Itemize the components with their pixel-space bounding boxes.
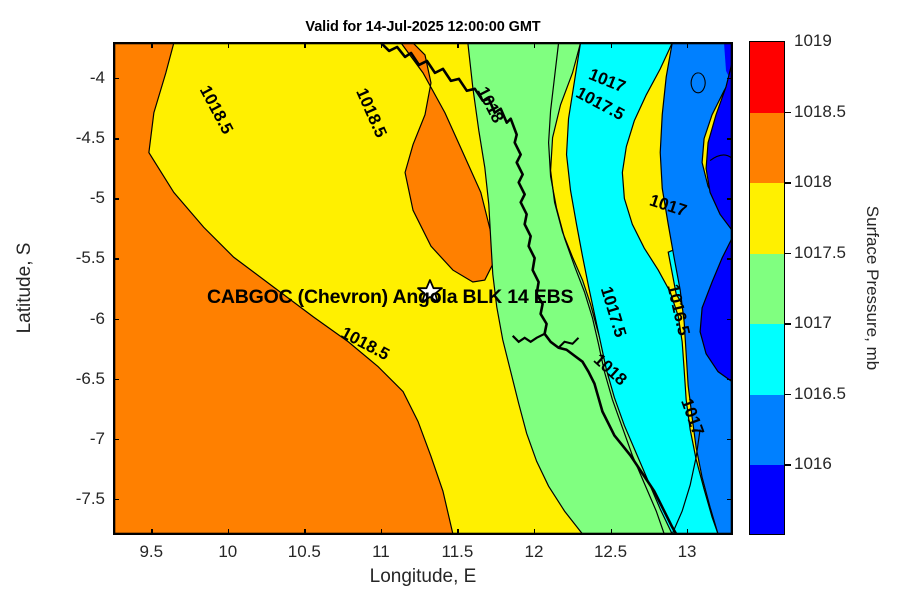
x-tick-top bbox=[151, 42, 152, 48]
y-tick-right bbox=[727, 439, 733, 440]
y-tick bbox=[113, 258, 119, 259]
y-tick-label: -6.5 bbox=[51, 369, 105, 389]
colorbar-band bbox=[750, 113, 784, 184]
colorbar[interactable] bbox=[749, 41, 785, 535]
x-tick bbox=[687, 529, 688, 535]
colorbar-tick-label: 1016 bbox=[794, 454, 832, 474]
y-tick-right bbox=[727, 319, 733, 320]
y-tick-right bbox=[727, 138, 733, 139]
y-tick-label: -5 bbox=[51, 188, 105, 208]
colorbar-tick bbox=[785, 464, 791, 465]
y-tick-label: -5.5 bbox=[51, 248, 105, 268]
y-tick-label: -6 bbox=[51, 309, 105, 329]
y-tick-right bbox=[727, 379, 733, 380]
colorbar-band bbox=[750, 42, 784, 113]
colorbar-band bbox=[750, 324, 784, 395]
colorbar-tick-label: 1017.5 bbox=[794, 243, 846, 263]
x-tick bbox=[151, 529, 152, 535]
station-label: CABGOC (Chevron) Angola BLK 14 EBS bbox=[207, 286, 573, 309]
y-tick bbox=[113, 319, 119, 320]
colorbar-tick-label: 1018.5 bbox=[794, 102, 846, 122]
x-tick-label: 12 bbox=[525, 542, 544, 562]
x-tick-top bbox=[228, 42, 229, 48]
colorbar-title: Surface Pressure, mb bbox=[862, 138, 882, 438]
y-tick bbox=[113, 439, 119, 440]
x-tick-label: 11 bbox=[372, 542, 390, 562]
colorbar-band bbox=[750, 183, 784, 254]
x-tick-top bbox=[687, 42, 688, 48]
x-tick-label: 13 bbox=[678, 542, 697, 562]
colorbar-band bbox=[750, 395, 784, 466]
y-tick bbox=[113, 379, 119, 380]
colorbar-band bbox=[750, 465, 784, 535]
x-tick bbox=[611, 529, 612, 535]
pressure-map-figure: Valid for 14-Jul-2025 12:00:00 GMT bbox=[0, 0, 900, 600]
x-axis-title: Longitude, E bbox=[113, 566, 733, 588]
y-tick bbox=[113, 138, 119, 139]
x-tick bbox=[228, 529, 229, 535]
y-tick-right bbox=[727, 258, 733, 259]
y-tick-right bbox=[727, 198, 733, 199]
y-tick bbox=[113, 499, 119, 500]
colorbar-tick-label: 1019 bbox=[794, 31, 832, 51]
x-tick bbox=[304, 529, 305, 535]
y-tick bbox=[113, 78, 119, 79]
y-tick-right bbox=[727, 499, 733, 500]
x-tick-label: 10.5 bbox=[288, 542, 321, 562]
colorbar-band bbox=[750, 254, 784, 325]
x-tick-label: 10 bbox=[218, 542, 237, 562]
x-tick-top bbox=[611, 42, 612, 48]
colorbar-tick bbox=[785, 253, 791, 254]
x-tick-top bbox=[381, 42, 382, 48]
y-tick bbox=[113, 198, 119, 199]
chart-title: Valid for 14-Jul-2025 12:00:00 GMT bbox=[113, 19, 733, 35]
colorbar-tick bbox=[785, 112, 791, 113]
x-tick bbox=[534, 529, 535, 535]
y-tick-label: -4 bbox=[51, 68, 105, 88]
colorbar-tick bbox=[785, 323, 791, 324]
y-tick-right bbox=[727, 78, 733, 79]
x-tick bbox=[457, 529, 458, 535]
colorbar-tick-label: 1017 bbox=[794, 313, 832, 333]
x-tick-label: 11.5 bbox=[442, 542, 474, 562]
y-tick-label: -7.5 bbox=[51, 489, 105, 509]
y-axis-title: Latitude, S bbox=[14, 168, 36, 408]
colorbar-tick bbox=[785, 394, 791, 395]
x-tick-label: 12.5 bbox=[594, 542, 627, 562]
x-tick-label: 9.5 bbox=[139, 542, 163, 562]
colorbar-tick-label: 1018 bbox=[794, 172, 832, 192]
y-tick-label: -4.5 bbox=[51, 128, 105, 148]
x-tick-top bbox=[457, 42, 458, 48]
colorbar-tick-label: 1016.5 bbox=[794, 384, 846, 404]
colorbar-tick bbox=[785, 182, 791, 183]
x-tick bbox=[381, 529, 382, 535]
x-tick-top bbox=[304, 42, 305, 48]
y-tick-label: -7 bbox=[51, 429, 105, 449]
x-tick-top bbox=[534, 42, 535, 48]
